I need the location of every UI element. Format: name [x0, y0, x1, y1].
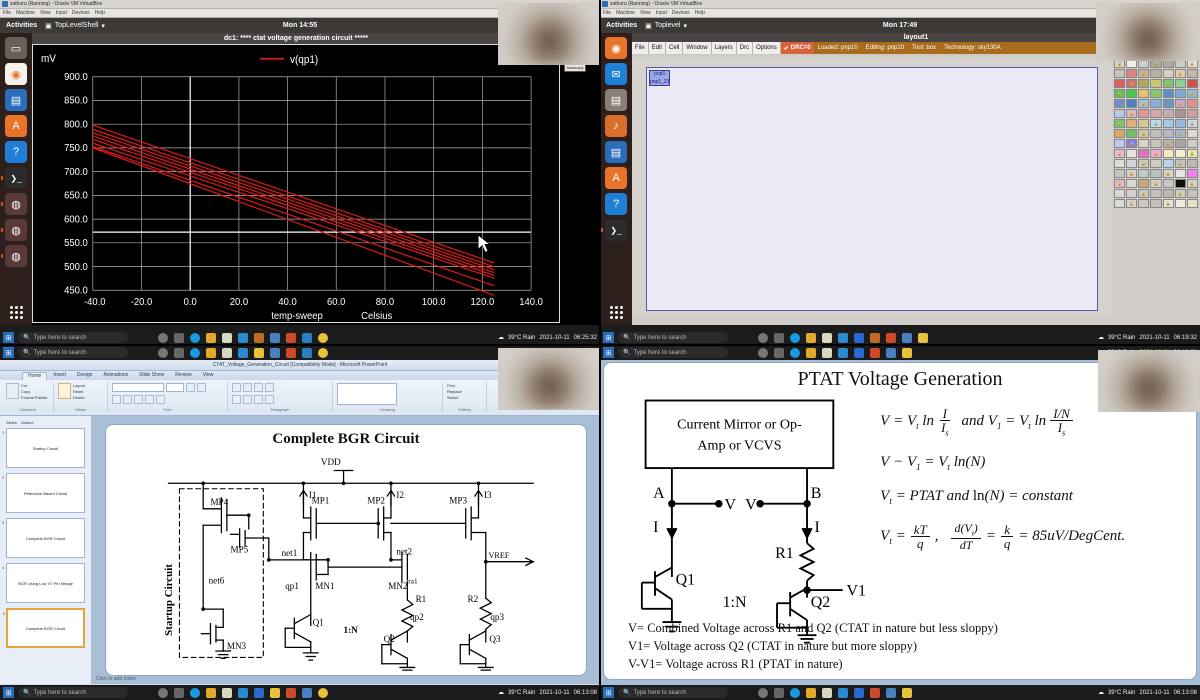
- layer-palette-swatch[interactable]: 🔒: [1163, 79, 1174, 88]
- layer-palette-swatch[interactable]: [1114, 169, 1125, 178]
- layer-palette-swatch[interactable]: [1114, 69, 1125, 78]
- tab-home[interactable]: Home: [22, 372, 47, 380]
- layer-palette-swatch[interactable]: [1138, 149, 1149, 158]
- network-app-icon[interactable]: [270, 333, 280, 343]
- network-app-icon-5[interactable]: [886, 348, 896, 358]
- powerpoint-icon-5[interactable]: [870, 348, 880, 358]
- layer-palette-swatch[interactable]: [1187, 69, 1198, 78]
- layer-palette-swatch[interactable]: [1138, 89, 1149, 98]
- layer-palette-swatch[interactable]: [1163, 189, 1174, 198]
- layer-palette-swatch[interactable]: 🔒: [1126, 169, 1137, 178]
- slide-thumbnail[interactable]: Complete BGR Circuit5: [6, 608, 85, 648]
- edge-icon-6[interactable]: [790, 688, 800, 698]
- align-left-button[interactable]: [232, 395, 241, 404]
- word-icon-4[interactable]: [254, 688, 264, 698]
- layer-palette-swatch[interactable]: [1114, 199, 1125, 208]
- layer-palette-swatch[interactable]: 🔒: [1138, 99, 1149, 108]
- layer-palette-swatch[interactable]: 🔒: [1163, 199, 1174, 208]
- dock-item-xterm-2[interactable]: ◍: [5, 219, 27, 241]
- layer-palette-swatch[interactable]: [1163, 129, 1174, 138]
- layer-palette-swatch[interactable]: 🔒: [1126, 79, 1137, 88]
- ribbon-group-font[interactable]: Font: [108, 382, 228, 413]
- start-button-6[interactable]: ⊞: [603, 687, 614, 698]
- pane-tab-slides[interactable]: Slides: [6, 420, 17, 425]
- label-vref: VREF: [488, 551, 509, 560]
- layer-palette-swatch[interactable]: [1175, 109, 1186, 118]
- align-right-button[interactable]: [254, 395, 263, 404]
- gnome-app-menu[interactable]: ▣ TopLevelShell ▾: [45, 22, 105, 30]
- delete-button[interactable]: Delete: [73, 395, 85, 400]
- pane-tabs[interactable]: Slides Outline: [6, 420, 85, 425]
- network-app-icon-3[interactable]: [270, 348, 280, 358]
- layer-palette-swatch[interactable]: 🔒: [1187, 149, 1198, 158]
- layer-palette-swatch[interactable]: 🔒: [1187, 89, 1198, 98]
- underline-button[interactable]: [134, 395, 143, 404]
- layer-palette-swatch[interactable]: 🔒: [1126, 109, 1137, 118]
- store-icon-6[interactable]: [822, 688, 832, 698]
- mail-icon-3[interactable]: [238, 348, 248, 358]
- layer-palette-swatch[interactable]: 🔒: [1150, 89, 1161, 98]
- taskview-icon-5[interactable]: [758, 348, 768, 358]
- chrome-icon-3[interactable]: [318, 348, 328, 358]
- file-explorer-icon[interactable]: [206, 333, 216, 343]
- label-net1: net1: [281, 548, 297, 558]
- layer-palette-swatch[interactable]: 🔒: [1163, 169, 1174, 178]
- mail-icon-5[interactable]: [838, 348, 848, 358]
- store-icon-4[interactable]: [222, 688, 232, 698]
- multi-window-screenshot: sathuru (Running) - Oracle VM VirtualBox…: [0, 0, 1200, 700]
- cortana-icon-2[interactable]: [774, 333, 784, 343]
- paint-icon-2[interactable]: [918, 333, 928, 343]
- virtualbox-icon-2[interactable]: [870, 333, 880, 343]
- layer-palette-swatch[interactable]: [1175, 179, 1186, 188]
- cut-button[interactable]: Cut: [21, 383, 47, 388]
- window-icon: ▣: [45, 22, 52, 30]
- slides-thumbnail-pane[interactable]: Slides Outline Startup Circuit1Reference…: [0, 416, 92, 684]
- magic-layer-palette[interactable]: 🔒🔒🔒🔒🔒🔒🔒🔒🔒🔒🔒🔒🔒🔒🔒🔒🔒🔒🔒🔒🔒🔒🔒🔒🔒🔒🔒🔒🔒🔒🔒🔒🔒🔒🔒: [1112, 57, 1200, 317]
- layer-palette-swatch[interactable]: [1175, 139, 1186, 148]
- layer-palette-swatch[interactable]: 🔒: [1163, 139, 1174, 148]
- increase-indent-button[interactable]: [265, 383, 274, 392]
- bullets-button[interactable]: [232, 383, 241, 392]
- vbox-menu-help[interactable]: Help: [95, 10, 105, 16]
- italic-button[interactable]: [123, 395, 132, 404]
- powerpoint-icon-6[interactable]: [870, 688, 880, 698]
- layer-palette-swatch[interactable]: [1126, 149, 1137, 158]
- edge-icon[interactable]: [190, 333, 200, 343]
- ubuntu-dock-2: ◉ ✉ ▤ ♪ ▤ A ? ❯_: [600, 33, 632, 325]
- taskbar-search-input-5[interactable]: 🔍 Type here to search: [618, 347, 728, 358]
- plot-canvas[interactable]: mV v(qp1): [32, 44, 560, 323]
- paint-icon-3[interactable]: [254, 348, 264, 358]
- layer-palette-swatch[interactable]: 🔒: [1138, 129, 1149, 138]
- align-center-button[interactable]: [243, 395, 252, 404]
- mail-icon-4[interactable]: [238, 688, 248, 698]
- ribbon-group-slides[interactable]: Layout Reset Delete Slides: [54, 382, 108, 413]
- vbox2-menu-machine[interactable]: Machine: [616, 10, 635, 16]
- plot-y-unit: mV: [41, 54, 56, 65]
- shrink-font-button[interactable]: [197, 383, 206, 392]
- dock2-item-help[interactable]: ?: [605, 193, 627, 215]
- file-explorer-icon-3[interactable]: [206, 348, 216, 358]
- layer-palette-swatch[interactable]: [1150, 79, 1161, 88]
- network-app-icon-6[interactable]: [886, 688, 896, 698]
- label-mp5: MP5: [230, 545, 248, 555]
- taskbar-search-input-4[interactable]: 🔍 Type here to search: [18, 687, 128, 698]
- copy-button[interactable]: Copy: [21, 389, 47, 394]
- slide-thumbnail-label: BGR Using Low VT Pin Mirage: [18, 581, 73, 586]
- layer-palette-swatch[interactable]: 🔒: [1114, 119, 1125, 128]
- layer-palette-swatch[interactable]: [1163, 149, 1174, 158]
- layer-palette-swatch[interactable]: [1150, 169, 1161, 178]
- layer-palette-swatch[interactable]: [1150, 189, 1161, 198]
- store-icon-5[interactable]: [822, 348, 832, 358]
- layer-palette-swatch[interactable]: [1163, 159, 1174, 168]
- tab-slide-show[interactable]: Slide Show: [134, 372, 169, 380]
- drc-status-badge[interactable]: ✔ DRC=0: [781, 42, 814, 54]
- tab-view[interactable]: View: [198, 372, 219, 380]
- paint-icon-4[interactable]: [270, 688, 280, 698]
- word-icon-6[interactable]: [854, 688, 864, 698]
- dock-item-libreoffice-writer[interactable]: ▤: [5, 89, 27, 111]
- layer-palette-swatch[interactable]: [1187, 159, 1198, 168]
- magic-menu-options[interactable]: Options: [753, 42, 781, 54]
- network-app-icon-4[interactable]: [302, 688, 312, 698]
- word-icon-2[interactable]: [854, 333, 864, 343]
- layer-palette-swatch[interactable]: [1187, 99, 1198, 108]
- layer-palette-swatch[interactable]: [1126, 89, 1137, 98]
- grow-font-button[interactable]: [186, 383, 195, 392]
- layer-palette-swatch[interactable]: 🔒: [1114, 89, 1125, 98]
- word-icon-5[interactable]: [854, 348, 864, 358]
- ribbon-group-clipboard[interactable]: Cut Copy Format Painter Clipboard: [2, 382, 54, 413]
- vbox-menu-view[interactable]: View: [40, 10, 51, 16]
- vbox-menu-devices[interactable]: Devices: [72, 10, 90, 16]
- virtualbox-icon[interactable]: [254, 333, 264, 343]
- layer-palette-swatch[interactable]: [1114, 159, 1125, 168]
- search-icon-2: 🔍: [623, 334, 630, 341]
- cortana-icon[interactable]: [174, 333, 184, 343]
- layer-palette-swatch[interactable]: 🔒: [1187, 179, 1198, 188]
- store-icon-3[interactable]: [222, 348, 232, 358]
- layer-palette-swatch[interactable]: [1163, 89, 1174, 98]
- font-color-button[interactable]: [156, 395, 165, 404]
- start-button-5[interactable]: ⊞: [603, 347, 614, 358]
- layout-cell-instance[interactable]: pnp1pnp1_23: [649, 70, 670, 86]
- layer-palette-swatch[interactable]: [1114, 129, 1125, 138]
- layer-palette-swatch[interactable]: [1175, 89, 1186, 98]
- layer-palette-swatch[interactable]: 🔒: [1150, 179, 1161, 188]
- file-explorer-icon-5[interactable]: [806, 348, 816, 358]
- chrome-icon-4[interactable]: [318, 688, 328, 698]
- dock-item-xterm-3[interactable]: ◍: [5, 245, 27, 267]
- format-painter-button[interactable]: Format Painter: [21, 395, 47, 400]
- magic-menu-drc[interactable]: Drc: [737, 42, 753, 54]
- slide-thumbnail[interactable]: Startup Circuit1: [6, 428, 85, 468]
- layer-palette-swatch[interactable]: [1126, 159, 1137, 168]
- start-button-4[interactable]: ⊞: [3, 687, 14, 698]
- layer-palette-swatch[interactable]: [1187, 169, 1198, 178]
- taskview-icon-2[interactable]: [758, 333, 768, 343]
- taskbar-pinned-icons-4: [158, 688, 328, 698]
- layer-palette-swatch[interactable]: 🔒: [1114, 179, 1125, 188]
- show-applications-icon[interactable]: [10, 306, 23, 319]
- layer-palette-swatch[interactable]: [1126, 99, 1137, 108]
- slide-thumbnail[interactable]: BGR Using Low VT Pin Mirage4: [6, 563, 85, 603]
- taskbar-search-input-6[interactable]: 🔍 Type here to search: [618, 687, 728, 698]
- label-q3: Q3: [489, 634, 501, 644]
- taskview-icon-6[interactable]: [758, 688, 768, 698]
- layer-palette-swatch[interactable]: 🔒: [1114, 149, 1125, 158]
- taskbar-clock-area-4[interactable]: ☁ 39°C Rain 2021-10-11 06:13:08: [498, 689, 597, 696]
- taskview-icon-3[interactable]: [158, 348, 168, 358]
- dock-item-firefox[interactable]: ◉: [5, 63, 27, 85]
- powerpoint-icon-3[interactable]: [286, 348, 296, 358]
- taskbar-search-input-2[interactable]: 🔍 Type here to search: [618, 332, 728, 343]
- ribbon-group-editing[interactable]: Find Replace Select Editing: [443, 382, 487, 413]
- dock2-item-ubuntu-software[interactable]: A: [605, 167, 627, 189]
- vbox2-menu-view[interactable]: View: [640, 10, 651, 16]
- file-explorer-icon-4[interactable]: [206, 688, 216, 698]
- select-button[interactable]: Select: [447, 395, 482, 400]
- layer-palette-swatch[interactable]: [1150, 139, 1161, 148]
- powerpoint-icon-4[interactable]: [286, 688, 296, 698]
- layer-palette-swatch[interactable]: [1138, 119, 1149, 128]
- layer-palette-swatch[interactable]: [1150, 99, 1161, 108]
- decrease-indent-button[interactable]: [254, 383, 263, 392]
- taskview-icon[interactable]: [158, 333, 168, 343]
- layer-palette-swatch[interactable]: [1150, 129, 1161, 138]
- layer-palette-swatch[interactable]: 🔒: [1126, 199, 1137, 208]
- notes-placeholder[interactable]: Click to add notes: [96, 676, 136, 682]
- new-slide-button[interactable]: [58, 383, 71, 399]
- dock-item-minimized-window[interactable]: ▭: [5, 37, 27, 59]
- font-name-select[interactable]: [112, 383, 164, 392]
- store-icon-2[interactable]: [822, 333, 832, 343]
- layer-palette-swatch[interactable]: 🔒: [1175, 69, 1186, 78]
- dock2-item-libreoffice-writer[interactable]: ▤: [605, 141, 627, 163]
- layer-palette-swatch[interactable]: [1126, 189, 1137, 198]
- mail-icon[interactable]: [238, 333, 248, 343]
- layer-palette-swatch[interactable]: 🔒: [1126, 139, 1137, 148]
- vbox-menu-input[interactable]: Input: [56, 10, 67, 16]
- tab-design[interactable]: Design: [72, 372, 98, 380]
- label-ratio-1n: 1:N: [343, 625, 358, 635]
- layout-button[interactable]: Layout: [73, 383, 85, 388]
- group-label-drawing: Drawing: [337, 407, 438, 412]
- layer-palette-swatch[interactable]: [1114, 139, 1125, 148]
- layer-palette-swatch[interactable]: [1175, 119, 1186, 128]
- mail-icon-6[interactable]: [838, 688, 848, 698]
- edge-icon-3[interactable]: [190, 348, 200, 358]
- layer-palette-swatch[interactable]: [1187, 139, 1198, 148]
- layer-palette-swatch[interactable]: [1163, 99, 1174, 108]
- layer-palette-swatch[interactable]: [1150, 199, 1161, 208]
- layer-palette-swatch[interactable]: [1163, 119, 1174, 128]
- layer-palette-swatch[interactable]: 🔒: [1187, 119, 1198, 128]
- strikethrough-button[interactable]: [145, 395, 154, 404]
- dock2-item-firefox[interactable]: ◉: [605, 37, 627, 59]
- taskbar-pinned-icons-3: [158, 348, 328, 358]
- bold-button[interactable]: [112, 395, 121, 404]
- vbox2-menu-devices[interactable]: Devices: [672, 10, 690, 16]
- search-icon: 🔍: [23, 334, 30, 341]
- layer-palette-swatch[interactable]: [1138, 179, 1149, 188]
- dock2-item-rhythmbox[interactable]: ♪: [605, 115, 627, 137]
- layer-palette-swatch[interactable]: [1187, 79, 1198, 88]
- taskbar-clock-area-2[interactable]: ☁ 39°C Rain 2021-10-11 06:19:32: [1098, 334, 1197, 341]
- pane-tab-outline[interactable]: Outline: [21, 420, 34, 425]
- cortana-icon-3[interactable]: [174, 348, 184, 358]
- thumbnail-list[interactable]: Startup Circuit1Reference Based Circuit2…: [6, 428, 85, 648]
- dock-item-ubuntu-software[interactable]: A: [5, 115, 27, 137]
- find-button[interactable]: Find: [447, 383, 482, 388]
- layer-palette-swatch[interactable]: [1175, 199, 1186, 208]
- layer-palette-swatch[interactable]: [1114, 79, 1125, 88]
- ribbon-group-drawing[interactable]: Drawing: [333, 382, 443, 413]
- shape-gallery[interactable]: [337, 383, 397, 405]
- edge-icon-4[interactable]: [190, 688, 200, 698]
- gnome-clock-2[interactable]: Mon 17:49: [883, 22, 917, 29]
- taskbar-search-input[interactable]: 🔍 Type here to search: [18, 332, 128, 343]
- tab-review[interactable]: Review: [170, 372, 196, 380]
- layer-palette-swatch[interactable]: 🔒: [1138, 159, 1149, 168]
- activities-button-2[interactable]: Activities: [606, 22, 637, 29]
- explorer2-icon-3[interactable]: [302, 348, 312, 358]
- layer-palette-swatch[interactable]: [1138, 139, 1149, 148]
- numbering-button[interactable]: [243, 383, 252, 392]
- layer-palette-swatch[interactable]: [1126, 129, 1137, 138]
- replace-button[interactable]: Replace: [447, 389, 482, 394]
- magic-menu-layers[interactable]: Layers: [712, 42, 737, 54]
- vbox-menu-machine[interactable]: Machine: [16, 10, 35, 16]
- webcam-overlay-top-right: [1096, 3, 1200, 61]
- reset-button[interactable]: Reset: [73, 389, 85, 394]
- activities-button[interactable]: Activities: [6, 22, 37, 29]
- font-size-select[interactable]: [166, 383, 184, 392]
- layer-palette-swatch[interactable]: [1126, 179, 1137, 188]
- layer-palette-swatch[interactable]: [1114, 189, 1125, 198]
- layer-palette-swatch[interactable]: [1187, 189, 1198, 198]
- dock2-item-files[interactable]: ▤: [605, 89, 627, 111]
- vbox2-menu-file[interactable]: File: [603, 10, 611, 16]
- layer-palette-swatch[interactable]: [1150, 159, 1161, 168]
- layer-palette-swatch[interactable]: [1138, 169, 1149, 178]
- start-button-2[interactable]: ⊞: [603, 332, 614, 343]
- magic-menu-file[interactable]: File: [632, 42, 649, 54]
- vbox2-menu-input[interactable]: Input: [656, 10, 667, 16]
- layer-palette-swatch[interactable]: [1126, 69, 1137, 78]
- layer-palette-swatch[interactable]: 🔒: [1175, 189, 1186, 198]
- vbox2-menu-help[interactable]: Help: [695, 10, 705, 16]
- layer-palette-swatch[interactable]: [1114, 109, 1125, 118]
- layer-palette-swatch[interactable]: [1187, 129, 1198, 138]
- network-app-icon-2[interactable]: [902, 333, 912, 343]
- layer-palette-swatch[interactable]: [1163, 179, 1174, 188]
- show-applications-icon-2[interactable]: [610, 306, 623, 319]
- gnome-clock[interactable]: Mon 14:55: [283, 22, 317, 29]
- layer-palette-swatch[interactable]: 🔒: [1175, 99, 1186, 108]
- chrome-icon[interactable]: [318, 333, 328, 343]
- layer-palette-swatch[interactable]: 🔒: [1138, 69, 1149, 78]
- layer-palette-swatch[interactable]: 🔒: [1175, 159, 1186, 168]
- taskview-icon-4[interactable]: [158, 688, 168, 698]
- tab-insert[interactable]: Insert: [48, 372, 71, 380]
- taskbar-clock-area[interactable]: ☁ 39°C Rain 2021-10-11 06:25:32: [498, 334, 597, 341]
- powerpoint-icon-2[interactable]: [886, 333, 896, 343]
- explorer2-icon[interactable]: [302, 333, 312, 343]
- justify-button[interactable]: [265, 395, 274, 404]
- start-button[interactable]: ⊞: [3, 332, 14, 343]
- taskbar-clock-area-6[interactable]: ☁ 39°C Rain 2021-10-11 06:13:08: [1098, 689, 1197, 696]
- dock2-item-thunderbird[interactable]: ✉: [605, 63, 627, 85]
- vbox-menu-file[interactable]: File: [3, 10, 11, 16]
- ribbon-group-paragraph[interactable]: Paragraph: [228, 382, 333, 413]
- tab-animations[interactable]: Animations: [98, 372, 133, 380]
- layer-palette-swatch[interactable]: [1175, 169, 1186, 178]
- layer-palette-swatch[interactable]: [1150, 69, 1161, 78]
- layer-palette-swatch[interactable]: [1138, 79, 1149, 88]
- slide-thumbnail[interactable]: Complete BGR Circuit3: [6, 518, 85, 558]
- slide-editing-stage[interactable]: Complete BGR Circuit: [92, 416, 600, 684]
- layer-palette-swatch[interactable]: 🔒: [1138, 189, 1149, 198]
- dock-item-xterm-1[interactable]: ◍: [5, 193, 27, 215]
- start-button-3[interactable]: ⊞: [3, 347, 14, 358]
- mail-icon-2[interactable]: [838, 333, 848, 343]
- layer-palette-swatch[interactable]: 🔒: [1150, 149, 1161, 158]
- layer-palette-swatch[interactable]: [1114, 99, 1125, 108]
- layer-palette-swatch[interactable]: [1126, 119, 1137, 128]
- cortana-icon-6[interactable]: [774, 688, 784, 698]
- file-explorer-icon-2[interactable]: [806, 333, 816, 343]
- layer-palette-swatch[interactable]: [1163, 69, 1174, 78]
- magic-layout-canvas[interactable]: pnp1pnp1_27pnp1pnp1_15pnp1pnp1_16pnp1pnp…: [632, 57, 1112, 317]
- store-icon[interactable]: [222, 333, 232, 343]
- magic-menu-window[interactable]: Window: [683, 42, 711, 54]
- layer-palette-swatch[interactable]: [1175, 149, 1186, 158]
- layer-palette-swatch[interactable]: [1187, 109, 1198, 118]
- magic-menu-cell[interactable]: Cell: [666, 42, 683, 54]
- taskbar-search-input-3[interactable]: 🔍 Type here to search: [18, 347, 128, 358]
- edge-icon-5[interactable]: [790, 348, 800, 358]
- layer-palette-swatch[interactable]: 🔒: [1175, 129, 1186, 138]
- cortana-icon-5[interactable]: [774, 348, 784, 358]
- layer-palette-swatch[interactable]: 🔒: [1150, 119, 1161, 128]
- slide-canvas[interactable]: Complete BGR Circuit: [105, 424, 588, 676]
- gnome-app-menu-2[interactable]: ▣ Toplevel ▾: [645, 22, 687, 30]
- layer-palette-swatch[interactable]: 🔒: [1163, 109, 1174, 118]
- layer-palette-swatch[interactable]: [1138, 109, 1149, 118]
- file-explorer-icon-6[interactable]: [806, 688, 816, 698]
- cortana-icon-4[interactable]: [174, 688, 184, 698]
- layer-palette-swatch[interactable]: [1138, 199, 1149, 208]
- powerpoint-icon[interactable]: [286, 333, 296, 343]
- layer-palette-swatch[interactable]: [1187, 199, 1198, 208]
- weather-icon-2: ☁: [1098, 334, 1104, 341]
- paste-button[interactable]: [6, 383, 19, 399]
- ubuntu-dock: ▭ ◉ ▤ A ? ❯_ ◍ ◍ ◍: [0, 33, 32, 325]
- dock2-item-terminal[interactable]: ❯_: [605, 219, 627, 241]
- layer-palette-swatch[interactable]: [1150, 109, 1161, 118]
- slide-thumbnail[interactable]: Reference Based Circuit2: [6, 473, 85, 513]
- dock-item-help[interactable]: ?: [5, 141, 27, 163]
- magic-menu-edit[interactable]: Edit: [649, 42, 666, 54]
- paint-icon-6[interactable]: [902, 688, 912, 698]
- layer-palette-swatch[interactable]: [1175, 79, 1186, 88]
- edge-icon-2[interactable]: [790, 333, 800, 343]
- paint-icon-5[interactable]: [902, 348, 912, 358]
- dock-item-terminal[interactable]: ❯_: [5, 167, 27, 189]
